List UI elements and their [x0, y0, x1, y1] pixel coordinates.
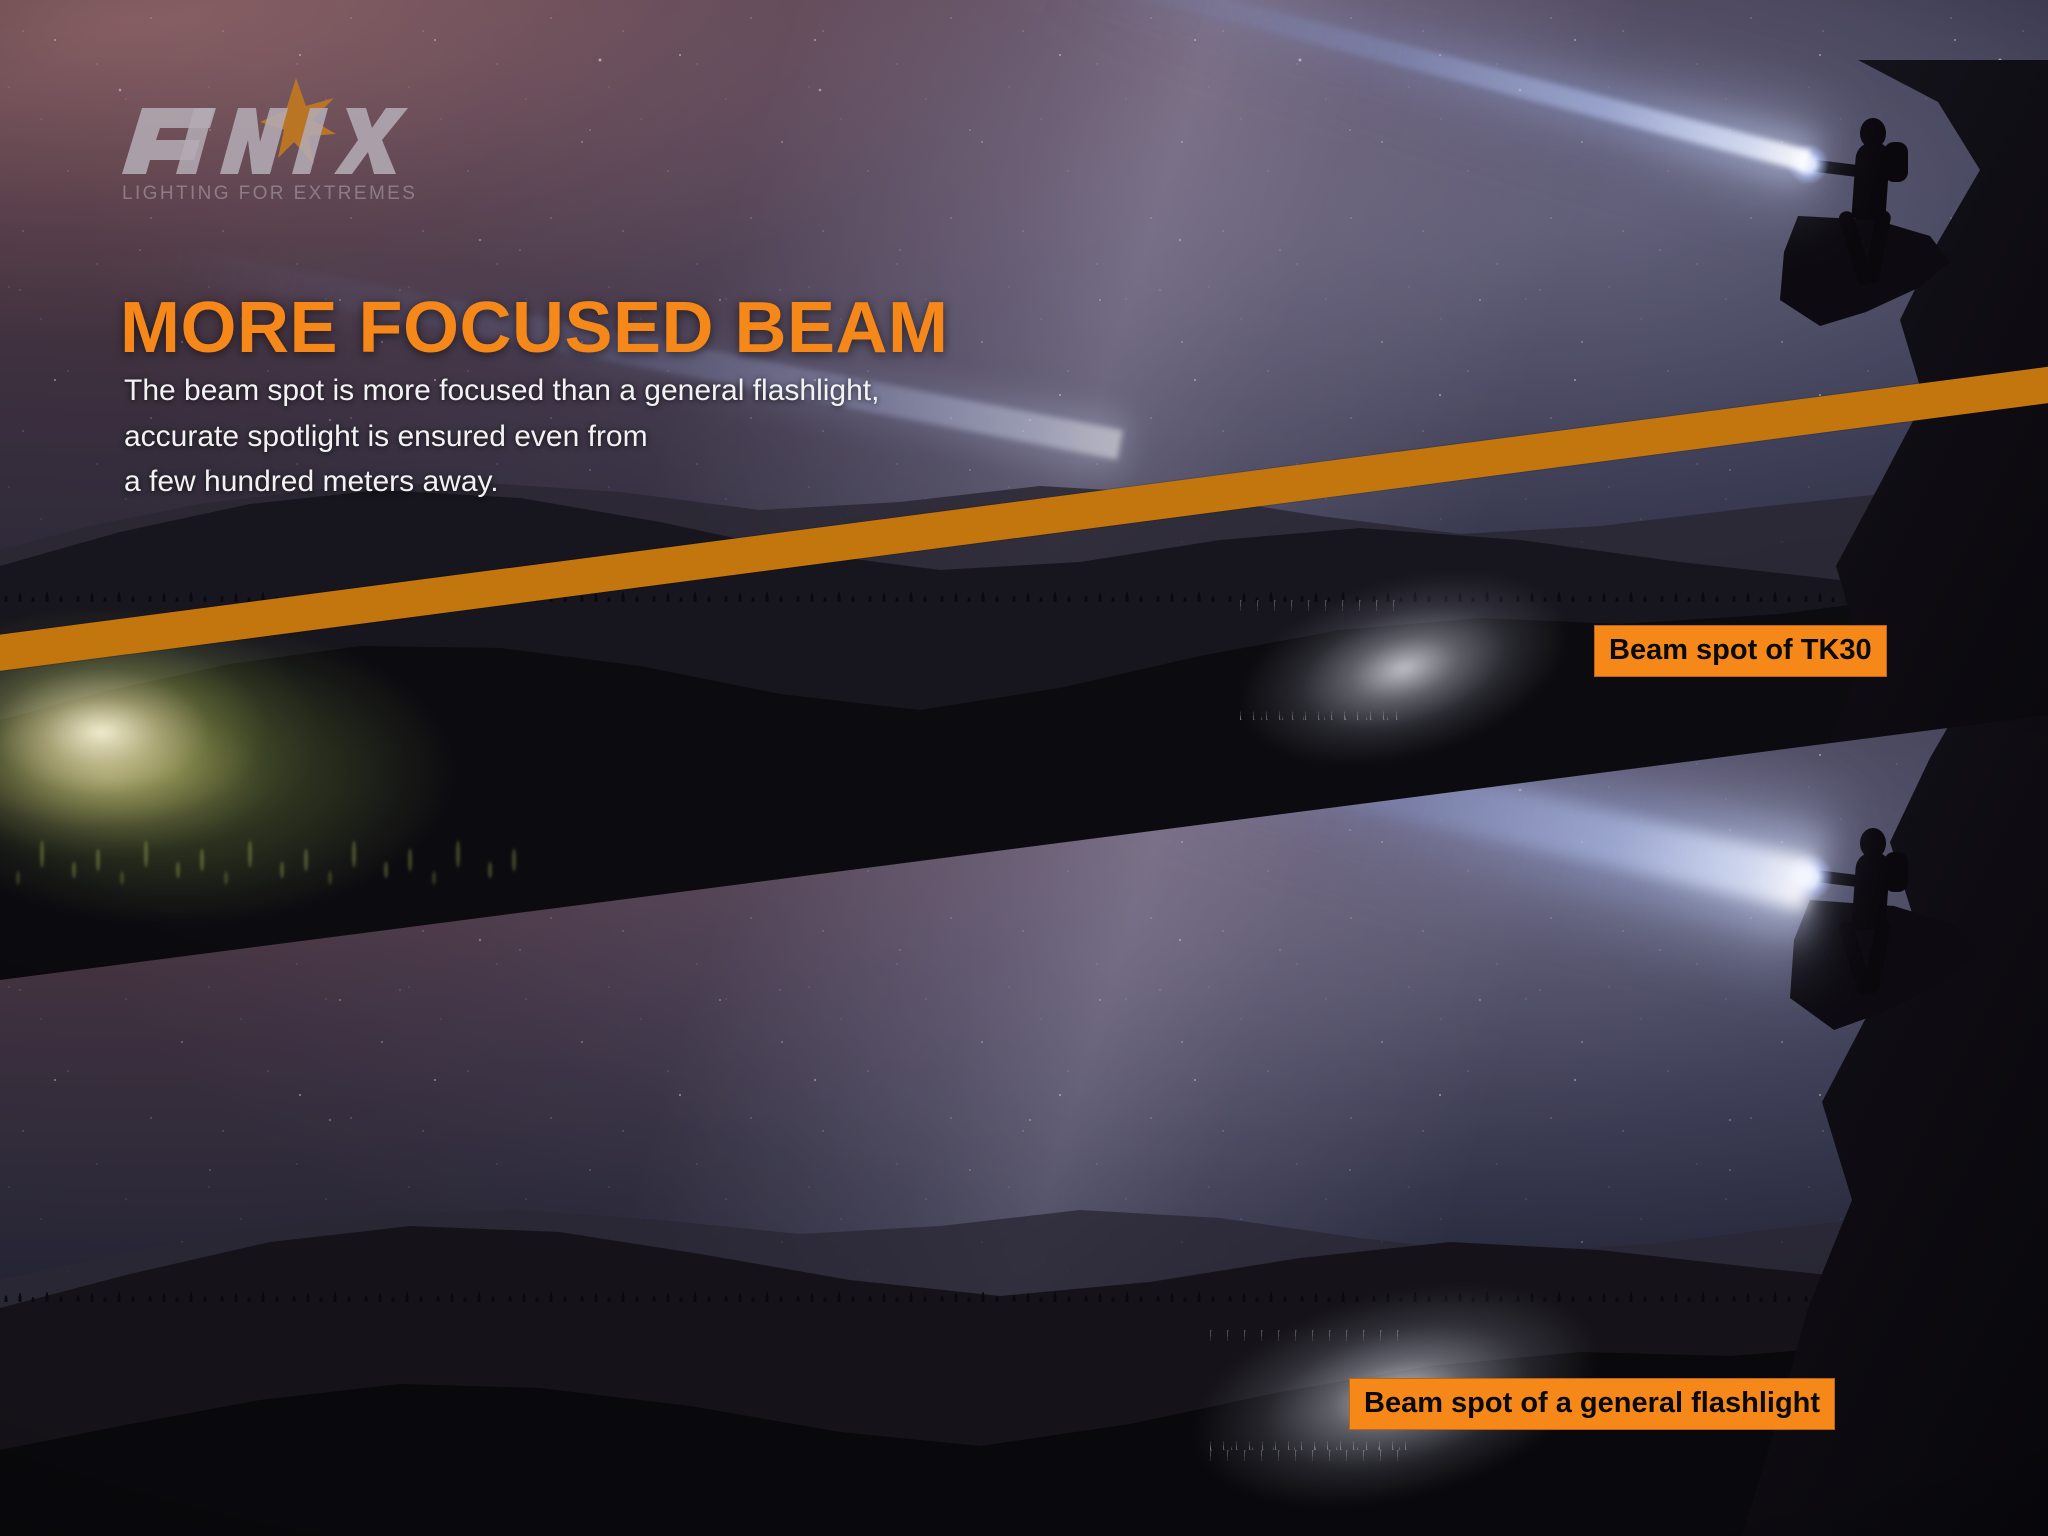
hiker-torso-lower — [1851, 852, 1890, 930]
description-line-1: The beam spot is more focused than a gen… — [124, 368, 879, 414]
illuminated-ground-patch — [0, 700, 400, 940]
ridgeline-mid-lower — [0, 1170, 2048, 1510]
beam-outer-halo — [1007, 0, 1830, 213]
description-line-2: accurate spotlight is ensured even from — [124, 414, 879, 460]
page-title: MORE FOCUSED BEAM — [120, 292, 949, 364]
hiker-torso — [1851, 142, 1890, 220]
caption-beam-spot-general: Beam spot of a general flashlight — [1349, 1378, 1835, 1430]
focused-beam-icon — [1027, 0, 1811, 172]
description-line-3: a few hundred meters away. — [124, 459, 879, 505]
fenix-logo — [120, 78, 440, 188]
caption-beam-spot-tk30: Beam spot of TK30 — [1594, 625, 1887, 677]
brand-tagline: LIGHTING FOR EXTREMES — [122, 183, 417, 205]
description-text: The beam spot is more focused than a gen… — [124, 368, 879, 505]
hiker-silhouette-icon-lower — [1822, 828, 1942, 948]
hiker-silhouette-icon — [1822, 118, 1942, 238]
grass-tuft-icon — [1240, 600, 1400, 720]
poster-canvas: LIGHTING FOR EXTREMES MORE FOCUSED BEAM … — [0, 0, 2048, 1536]
tree-line-icon-lower — [0, 1256, 2048, 1302]
